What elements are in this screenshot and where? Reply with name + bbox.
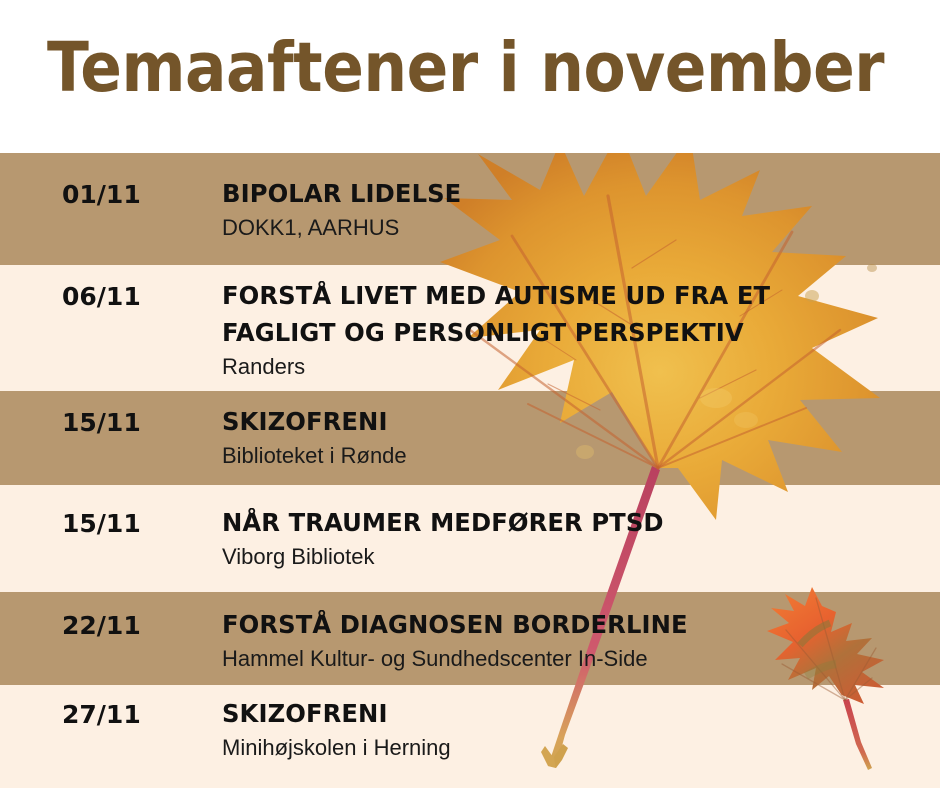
event-venue: Randers [222, 352, 930, 381]
event-venue: Hammel Kultur- og Sundhedscenter In-Side [222, 644, 930, 673]
event-date: 15/11 [62, 407, 141, 438]
page-title: Temaaftener i november [47, 28, 884, 108]
event-body: FORSTÅ DIAGNOSEN BORDERLINEHammel Kultur… [222, 606, 930, 673]
event-title-line: FORSTÅ DIAGNOSEN BORDERLINE [222, 606, 909, 643]
event-date: 15/11 [62, 508, 141, 539]
event-venue: Minihøjskolen i Herning [222, 733, 930, 762]
event-title-line: FORSTÅ LIVET MED AUTISME UD FRA ET [222, 277, 909, 314]
event-title-line: NÅR TRAUMER MEDFØRER PTSD [222, 504, 909, 541]
event-date: 06/11 [62, 281, 141, 312]
event-title-line: SKIZOFRENI [222, 695, 909, 732]
event-date: 22/11 [62, 610, 141, 641]
poster-canvas: Temaaftener i november 01/11BIPOLAR LIDE… [0, 0, 940, 788]
event-date: 01/11 [62, 179, 141, 210]
event-title-line: BIPOLAR LIDELSE [222, 175, 909, 212]
event-body: SKIZOFRENIMinihøjskolen i Herning [222, 695, 930, 762]
event-venue: Biblioteket i Rønde [222, 441, 930, 470]
event-venue: Viborg Bibliotek [222, 542, 930, 571]
event-body: NÅR TRAUMER MEDFØRER PTSDViborg Bibliote… [222, 504, 930, 571]
event-title-line: FAGLIGT OG PERSONLIGT PERSPEKTIV [222, 314, 909, 351]
event-date: 27/11 [62, 699, 141, 730]
event-body: SKIZOFRENIBiblioteket i Rønde [222, 403, 930, 470]
event-title-line: SKIZOFRENI [222, 403, 909, 440]
event-body: FORSTÅ LIVET MED AUTISME UD FRA ETFAGLIG… [222, 277, 930, 381]
poster-header: Temaaftener i november [0, 0, 940, 153]
event-body: BIPOLAR LIDELSEDOKK1, AARHUS [222, 175, 930, 242]
event-venue: DOKK1, AARHUS [222, 213, 930, 242]
